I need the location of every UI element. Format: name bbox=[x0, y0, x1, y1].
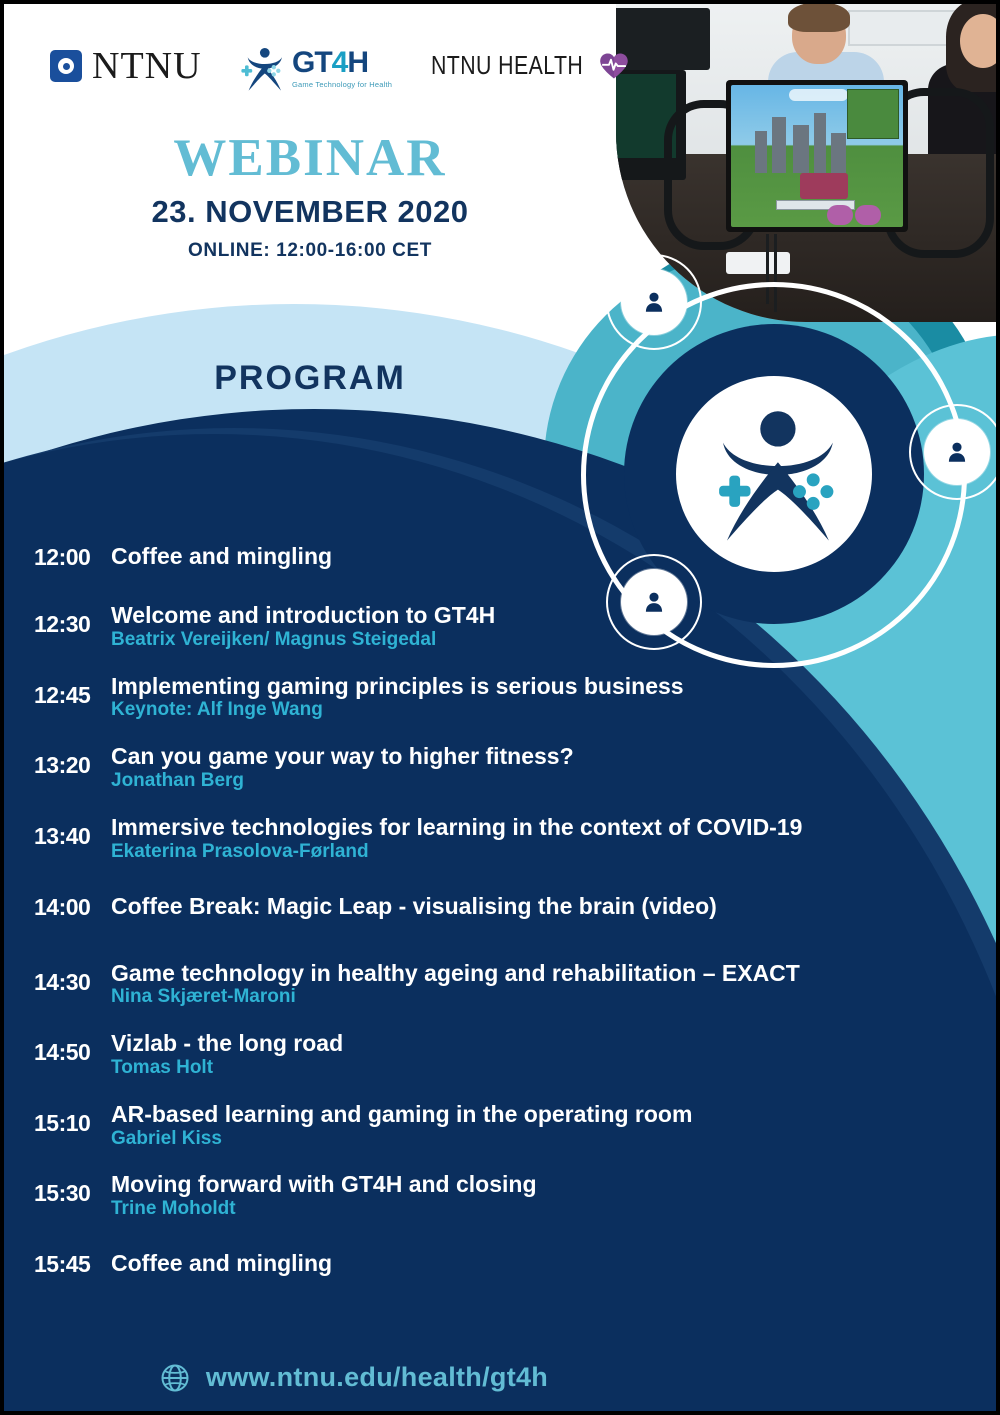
program-heading: PROGRAM bbox=[4, 359, 616, 398]
schedule-title: Coffee Break: Magic Leap - visualising t… bbox=[111, 894, 964, 919]
schedule-row: 13:20 Can you game your way to higher fi… bbox=[4, 744, 964, 793]
event-date: 23. NOVEMBER 2020 bbox=[4, 194, 616, 230]
person-icon bbox=[641, 289, 667, 315]
heart-pulse-icon bbox=[599, 52, 629, 80]
program-schedule: 12:00 Coffee and mingling 12:30 Welcome … bbox=[4, 544, 964, 1278]
schedule-row: 13:40 Immersive technologies for learnin… bbox=[4, 815, 964, 864]
emblem-inner-disc bbox=[676, 376, 872, 572]
gt4h-figure-icon bbox=[236, 42, 290, 96]
person-badge-right bbox=[924, 419, 990, 485]
gt4h-logo-label: GT4H bbox=[292, 46, 368, 80]
event-time: ONLINE: 12:00-16:00 CET bbox=[4, 240, 616, 262]
schedule-speaker: Beatrix Vereijken/ Magnus Steigedal bbox=[111, 629, 964, 652]
footer: www.ntnu.edu/health/gt4h bbox=[4, 1362, 704, 1393]
schedule-time: 14:30 bbox=[34, 961, 111, 996]
schedule-row: 14:30 Game technology in healthy ageing … bbox=[4, 961, 964, 1010]
schedule-time: 14:50 bbox=[34, 1031, 111, 1066]
schedule-title: Welcome and introduction to GT4H bbox=[111, 603, 964, 628]
ntnu-logo-icon bbox=[50, 50, 82, 82]
schedule-speaker: Jonathan Berg bbox=[111, 770, 964, 793]
schedule-row: 12:45 Implementing gaming principles is … bbox=[4, 674, 964, 723]
globe-icon bbox=[160, 1363, 190, 1393]
schedule-row: 14:00 Coffee Break: Magic Leap - visuali… bbox=[4, 894, 964, 921]
ntnu-health-label: NTNU HEALTH bbox=[431, 50, 583, 81]
schedule-time: 15:10 bbox=[34, 1102, 111, 1137]
gt4h-tagline: Game Technology for Health bbox=[292, 80, 392, 89]
schedule-title: Vizlab - the long road bbox=[111, 1031, 964, 1056]
schedule-title: Immersive technologies for learning in t… bbox=[111, 815, 964, 840]
schedule-title: Coffee and mingling bbox=[111, 1251, 964, 1276]
page-title: WEBINAR bbox=[4, 128, 616, 188]
title-block: WEBINAR 23. NOVEMBER 2020 ONLINE: 12:00-… bbox=[4, 128, 616, 262]
schedule-time: 13:40 bbox=[34, 815, 111, 850]
schedule-time: 12:00 bbox=[34, 544, 111, 571]
ntnu-health-logo: NTNU HEALTH bbox=[431, 50, 629, 81]
schedule-title: Implementing gaming principles is seriou… bbox=[111, 674, 964, 699]
schedule-time: 12:45 bbox=[34, 674, 111, 709]
schedule-speaker: Ekaterina Prasolova-Førland bbox=[111, 841, 964, 864]
schedule-speaker: Gabriel Kiss bbox=[111, 1128, 964, 1151]
schedule-time: 12:30 bbox=[34, 603, 111, 638]
schedule-speaker: Tomas Holt bbox=[111, 1057, 964, 1080]
schedule-row: 15:45 Coffee and mingling bbox=[4, 1251, 964, 1278]
schedule-title: AR-based learning and gaming in the oper… bbox=[111, 1102, 964, 1127]
schedule-row: 12:30 Welcome and introduction to GT4H B… bbox=[4, 603, 964, 652]
schedule-title: Coffee and mingling bbox=[111, 544, 964, 569]
schedule-speaker: Trine Moholdt bbox=[111, 1198, 964, 1221]
schedule-time: 14:00 bbox=[34, 894, 111, 921]
schedule-row: 14:50 Vizlab - the long road Tomas Holt bbox=[4, 1031, 964, 1080]
schedule-title: Can you game your way to higher fitness? bbox=[111, 744, 964, 769]
schedule-speaker: Nina Skjæret-Maroni bbox=[111, 986, 964, 1009]
schedule-time: 15:45 bbox=[34, 1251, 111, 1278]
schedule-row: 12:00 Coffee and mingling bbox=[4, 544, 964, 571]
schedule-title: Moving forward with GT4H and closing bbox=[111, 1172, 964, 1197]
ntnu-logo-label: NTNU bbox=[92, 44, 202, 88]
gt4h-logo: GT4H Game Technology for Health bbox=[236, 40, 386, 96]
logo-bar: NTNU GT4H Game Technology for Health NTN… bbox=[4, 22, 616, 92]
schedule-row: 15:10 AR-based learning and gaming in th… bbox=[4, 1102, 964, 1151]
schedule-time: 15:30 bbox=[34, 1172, 111, 1207]
webinar-poster: NTNU GT4H Game Technology for Health NTN… bbox=[0, 0, 1000, 1415]
schedule-speaker: Keynote: Alf Inge Wang bbox=[111, 699, 964, 722]
ntnu-logo: NTNU bbox=[50, 44, 202, 88]
website-url[interactable]: www.ntnu.edu/health/gt4h bbox=[206, 1362, 548, 1393]
person-badge-top bbox=[621, 269, 687, 335]
person-icon bbox=[944, 439, 970, 465]
gt4h-figure-icon bbox=[676, 376, 872, 572]
schedule-time: 13:20 bbox=[34, 744, 111, 779]
schedule-row: 15:30 Moving forward with GT4H and closi… bbox=[4, 1172, 964, 1221]
schedule-title: Game technology in healthy ageing and re… bbox=[111, 961, 964, 986]
